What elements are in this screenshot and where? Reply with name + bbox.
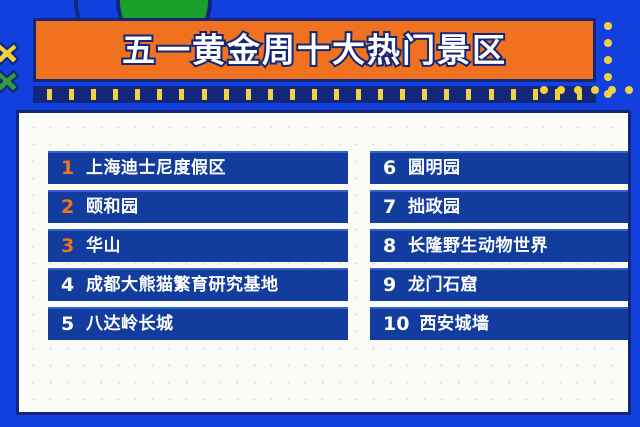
rank-number: 6	[383, 159, 398, 178]
cross-yellow-icon	[0, 40, 20, 66]
attraction-name: 成都大熊猫繁育研究基地	[86, 277, 279, 294]
dot-decoration	[625, 86, 633, 94]
ranking-row[interactable]: 8长隆野生动物世界	[370, 229, 631, 262]
attraction-name: 圆明园	[408, 160, 461, 177]
dot-decoration	[604, 73, 612, 81]
attraction-name: 上海迪士尼度假区	[86, 160, 226, 177]
tick-mark	[179, 89, 184, 100]
tick-mark	[290, 89, 295, 100]
page-title: 五一黄金周十大热门景区	[36, 34, 593, 67]
rank-number: 1	[61, 159, 76, 178]
poster-root: 五一黄金周十大热门景区 1上海迪士尼度假区2颐和园3华山4成都大熊猫繁育研究基地…	[0, 0, 640, 427]
ranking-row[interactable]: 3华山	[48, 229, 348, 262]
attraction-name: 长隆野生动物世界	[408, 238, 548, 255]
cross-green-icon	[0, 68, 20, 94]
tick-mark	[489, 89, 494, 100]
tick-mark	[224, 89, 229, 100]
tick-mark	[511, 89, 516, 100]
rank-number: 10	[383, 315, 409, 334]
dot-decoration	[604, 56, 612, 64]
dot-decoration	[604, 22, 612, 30]
rank-number: 7	[383, 198, 398, 217]
tick-mark	[466, 89, 471, 100]
dots-row-decoration	[540, 86, 633, 94]
tick-mark	[246, 89, 251, 100]
dot-decoration	[557, 86, 565, 94]
ranking-row[interactable]: 6圆明园	[370, 151, 631, 184]
ranking-row[interactable]: 2颐和园	[48, 190, 348, 223]
tick-mark	[202, 89, 207, 100]
dot-decoration	[591, 86, 599, 94]
content-card: 1上海迪士尼度假区2颐和园3华山4成都大熊猫繁育研究基地5八达岭长城 6圆明园7…	[16, 110, 631, 415]
tick-mark	[268, 89, 273, 100]
tick-mark	[400, 89, 405, 100]
dot-decoration	[574, 86, 582, 94]
tick-mark	[157, 89, 162, 100]
tick-mark	[378, 89, 383, 100]
ranking-row[interactable]: 9龙门石窟	[370, 268, 631, 301]
attraction-name: 颐和园	[86, 199, 139, 216]
attraction-name: 拙政园	[408, 199, 461, 216]
ranking-row[interactable]: 1上海迪士尼度假区	[48, 151, 348, 184]
tick-mark	[422, 89, 427, 100]
tick-mark	[444, 89, 449, 100]
attraction-name: 西安城墙	[419, 316, 489, 333]
tick-strip-decoration	[33, 86, 596, 103]
ranking-column-left: 1上海迪士尼度假区2颐和园3华山4成都大熊猫繁育研究基地5八达岭长城	[48, 151, 348, 340]
attraction-name: 龙门石窟	[408, 277, 478, 294]
rank-number: 5	[61, 315, 76, 334]
ranking-row[interactable]: 5八达岭长城	[48, 307, 348, 340]
tick-mark	[334, 89, 339, 100]
tick-mark	[135, 89, 140, 100]
ranking-row[interactable]: 10西安城墙	[370, 307, 631, 340]
ranking-row[interactable]: 4成都大熊猫繁育研究基地	[48, 268, 348, 301]
attraction-name: 华山	[86, 238, 121, 255]
tick-mark	[312, 89, 317, 100]
tick-mark	[356, 89, 361, 100]
rank-number: 9	[383, 276, 398, 295]
dot-decoration	[608, 86, 616, 94]
tick-mark	[91, 89, 96, 100]
dot-decoration	[604, 39, 612, 47]
rank-number: 8	[383, 237, 398, 256]
tick-mark	[47, 89, 52, 100]
rank-number: 3	[61, 237, 76, 256]
rank-number: 2	[61, 198, 76, 217]
ranking-column-right: 6圆明园7拙政园8长隆野生动物世界9龙门石窟10西安城墙	[370, 151, 631, 340]
tick-mark	[113, 89, 118, 100]
title-banner: 五一黄金周十大热门景区	[33, 18, 596, 82]
tick-mark	[69, 89, 74, 100]
rank-number: 4	[61, 276, 76, 295]
ranking-lists: 1上海迪士尼度假区2颐和园3华山4成都大熊猫繁育研究基地5八达岭长城 6圆明园7…	[48, 151, 631, 340]
tick-mark	[533, 89, 538, 100]
ranking-row[interactable]: 7拙政园	[370, 190, 631, 223]
dot-decoration	[540, 86, 548, 94]
attraction-name: 八达岭长城	[86, 316, 174, 333]
